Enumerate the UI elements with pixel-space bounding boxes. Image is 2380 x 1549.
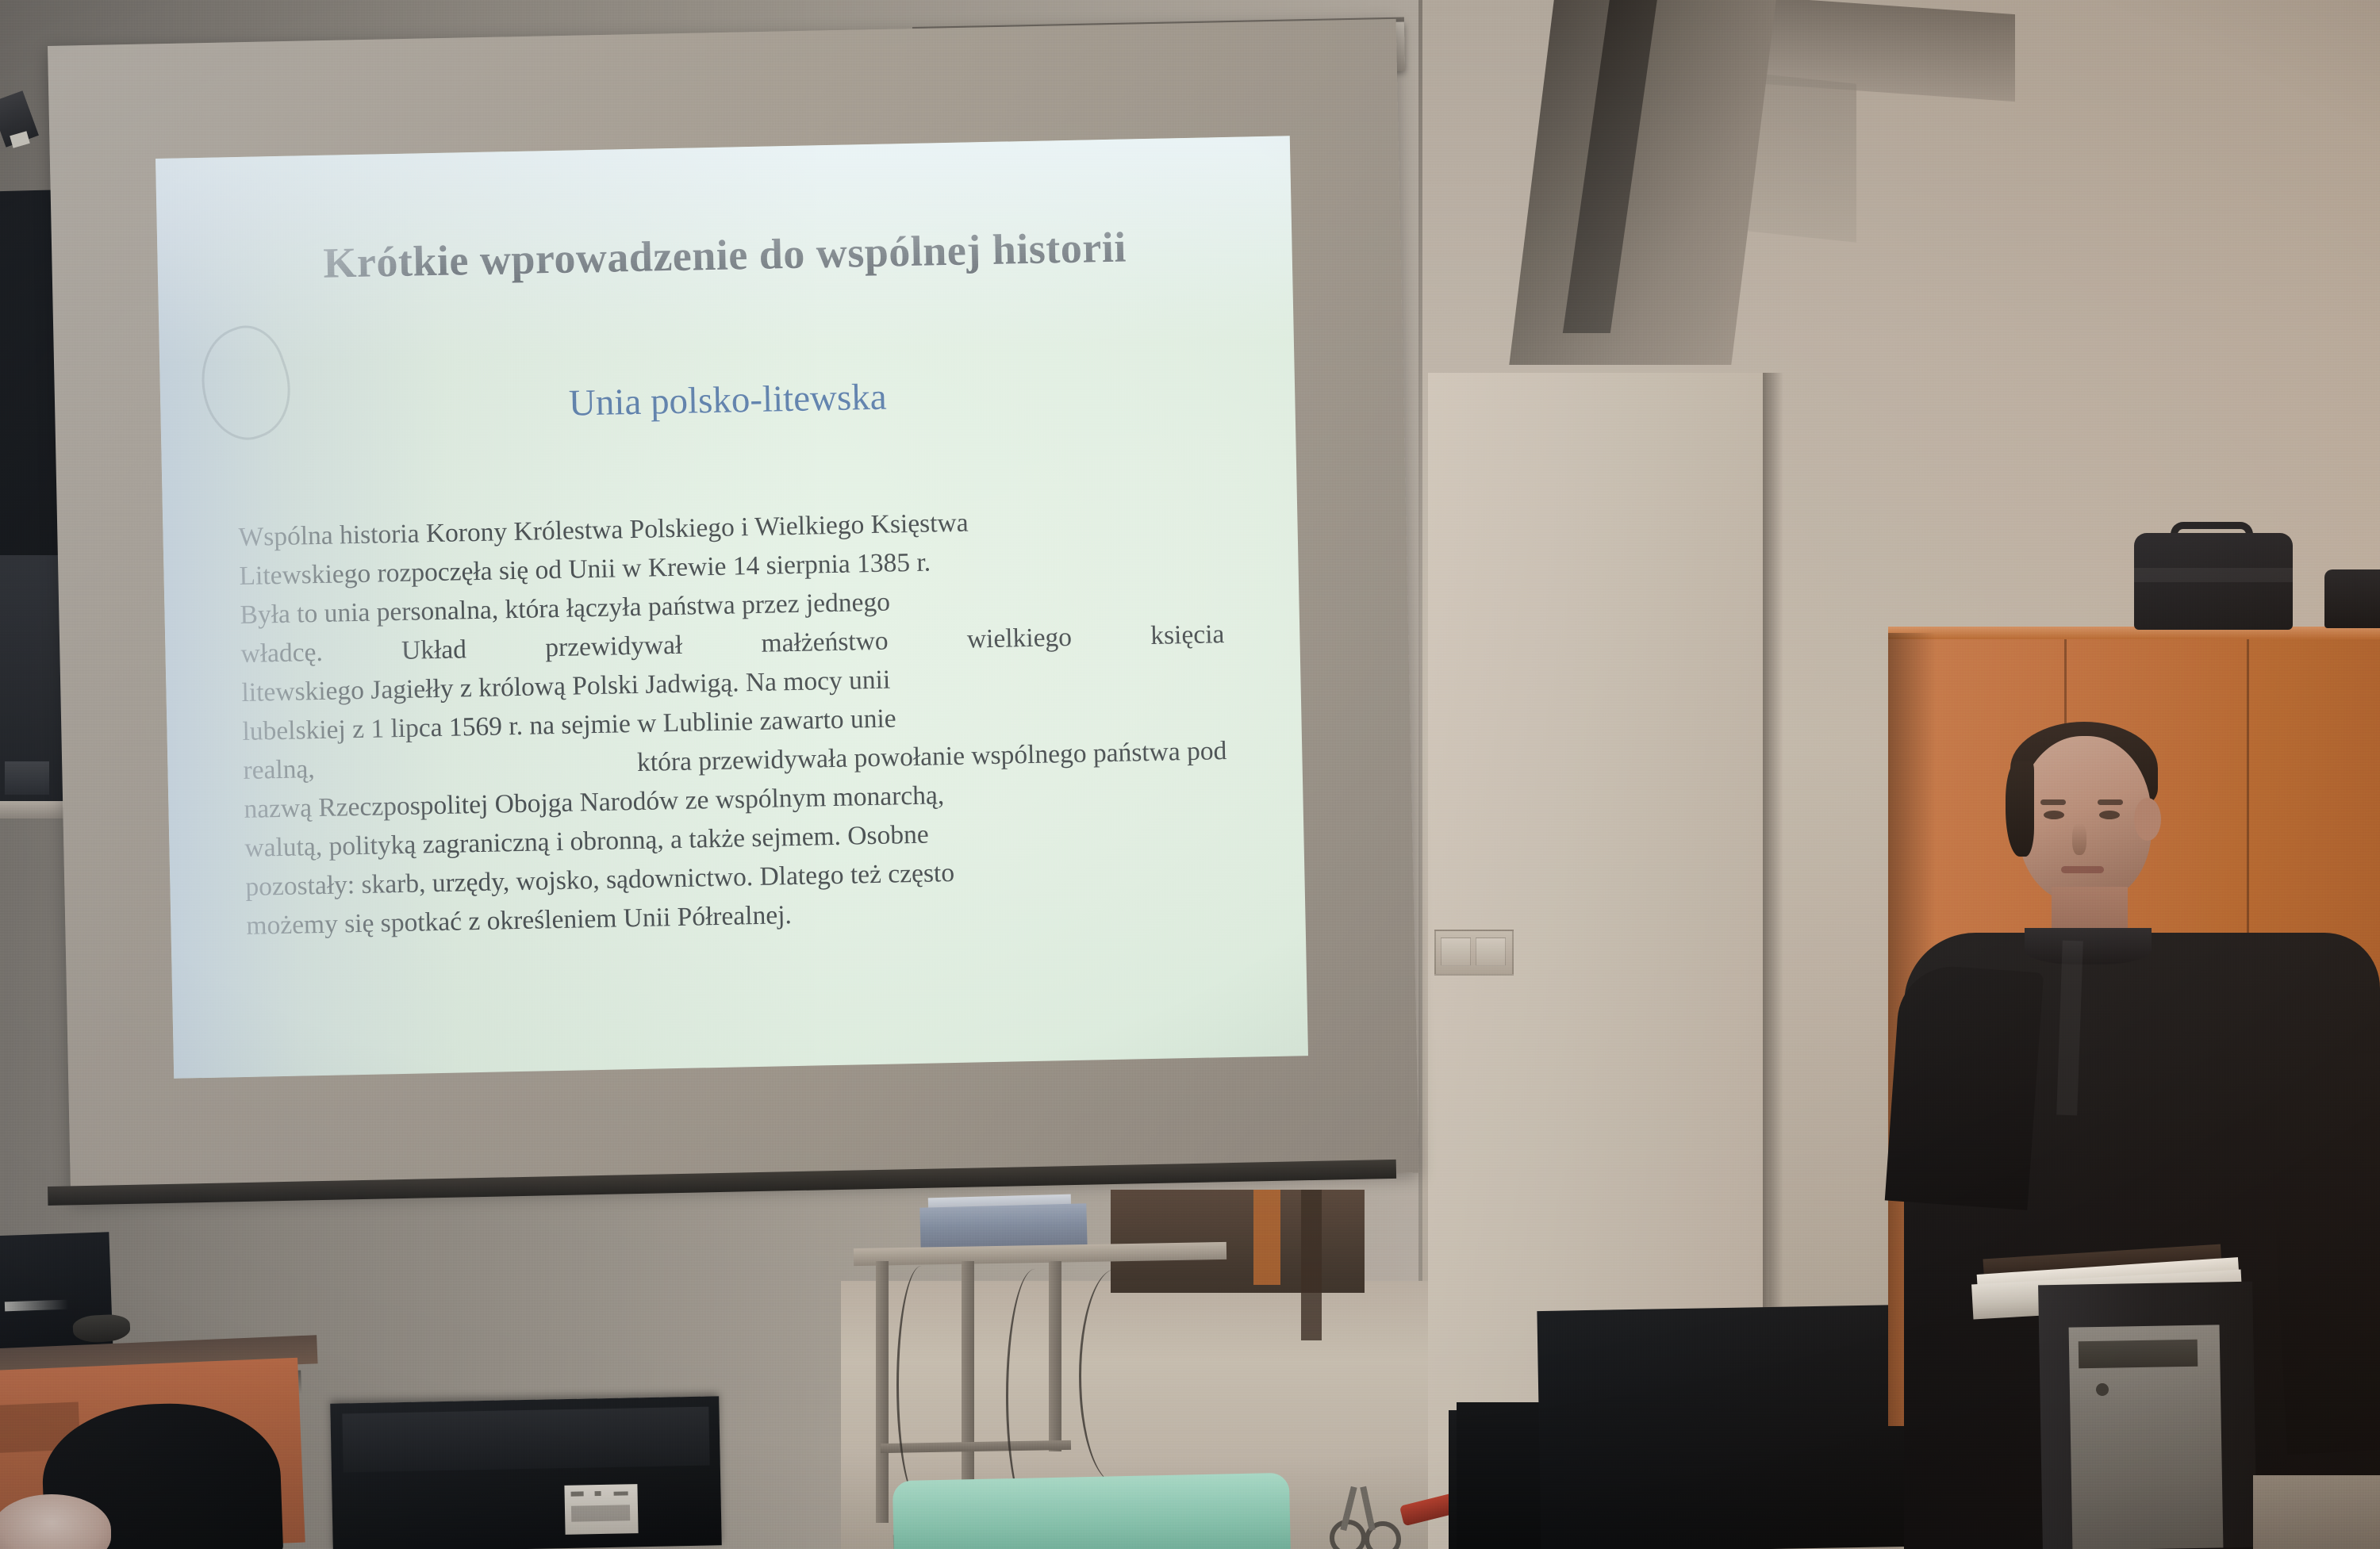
bag-flap <box>2134 568 2293 582</box>
slide-content: Krótkie wprowadzenie do wspólnej histori… <box>155 136 1308 1078</box>
center-monitor-screen <box>342 1407 709 1473</box>
presenter-eyebrow <box>2040 799 2066 805</box>
monitor-sticker <box>564 1484 638 1535</box>
presenter-head <box>2018 736 2152 903</box>
table-leg <box>876 1261 889 1523</box>
slide-body-word: wielkiego <box>966 618 1072 659</box>
slide-subtitle: Unia polsko-litewska <box>160 367 1296 433</box>
background-orange-panel <box>1253 1190 1280 1285</box>
cabinet-top-surface <box>1888 627 2380 639</box>
presenter-ear <box>2134 798 2161 841</box>
photo-scene: projection screen reflecta Krótkie wprow… <box>0 0 2380 1549</box>
left-small-device <box>5 761 49 795</box>
presenter-eye <box>2099 811 2120 819</box>
slide-body-word: przewidywał <box>545 626 683 667</box>
presenter-arm <box>2267 1052 2380 1455</box>
teal-chair-back <box>892 1473 1291 1549</box>
slide-body-text: Wspólna historia Korony Królestwa Polski… <box>238 498 1230 945</box>
slide-title: Krótkie wprowadzenie do wspólnej histori… <box>157 219 1292 291</box>
presenter-collar <box>2025 928 2152 964</box>
presenter-eye <box>2044 811 2064 819</box>
equipment-box <box>2324 569 2380 628</box>
slide-body-word: realną, <box>243 750 315 790</box>
floor-right <box>2253 1475 2380 1549</box>
power-cable <box>1079 1269 1153 1483</box>
presenter-nose <box>2072 823 2086 855</box>
slide-body-word: małżeństwo <box>761 622 889 663</box>
power-cable <box>896 1266 946 1504</box>
wall-socket <box>1434 930 1514 976</box>
presenter-shoulder <box>1885 963 2044 1210</box>
projected-slide: Krótkie wprowadzenie do wspólnej histori… <box>155 136 1308 1078</box>
slide-body-word: Układ <box>401 630 467 670</box>
slide-body-word: władcę. <box>240 633 323 673</box>
presenter-mouth <box>2061 866 2104 873</box>
presenter-hair-side <box>2006 761 2034 857</box>
slide-body-word: księcia <box>1150 615 1225 655</box>
presenter-eyebrow <box>2098 799 2123 805</box>
background-chair <box>1301 1190 1322 1340</box>
background-doorway <box>1111 1190 1365 1293</box>
pc-drive-bay <box>2079 1340 2198 1369</box>
